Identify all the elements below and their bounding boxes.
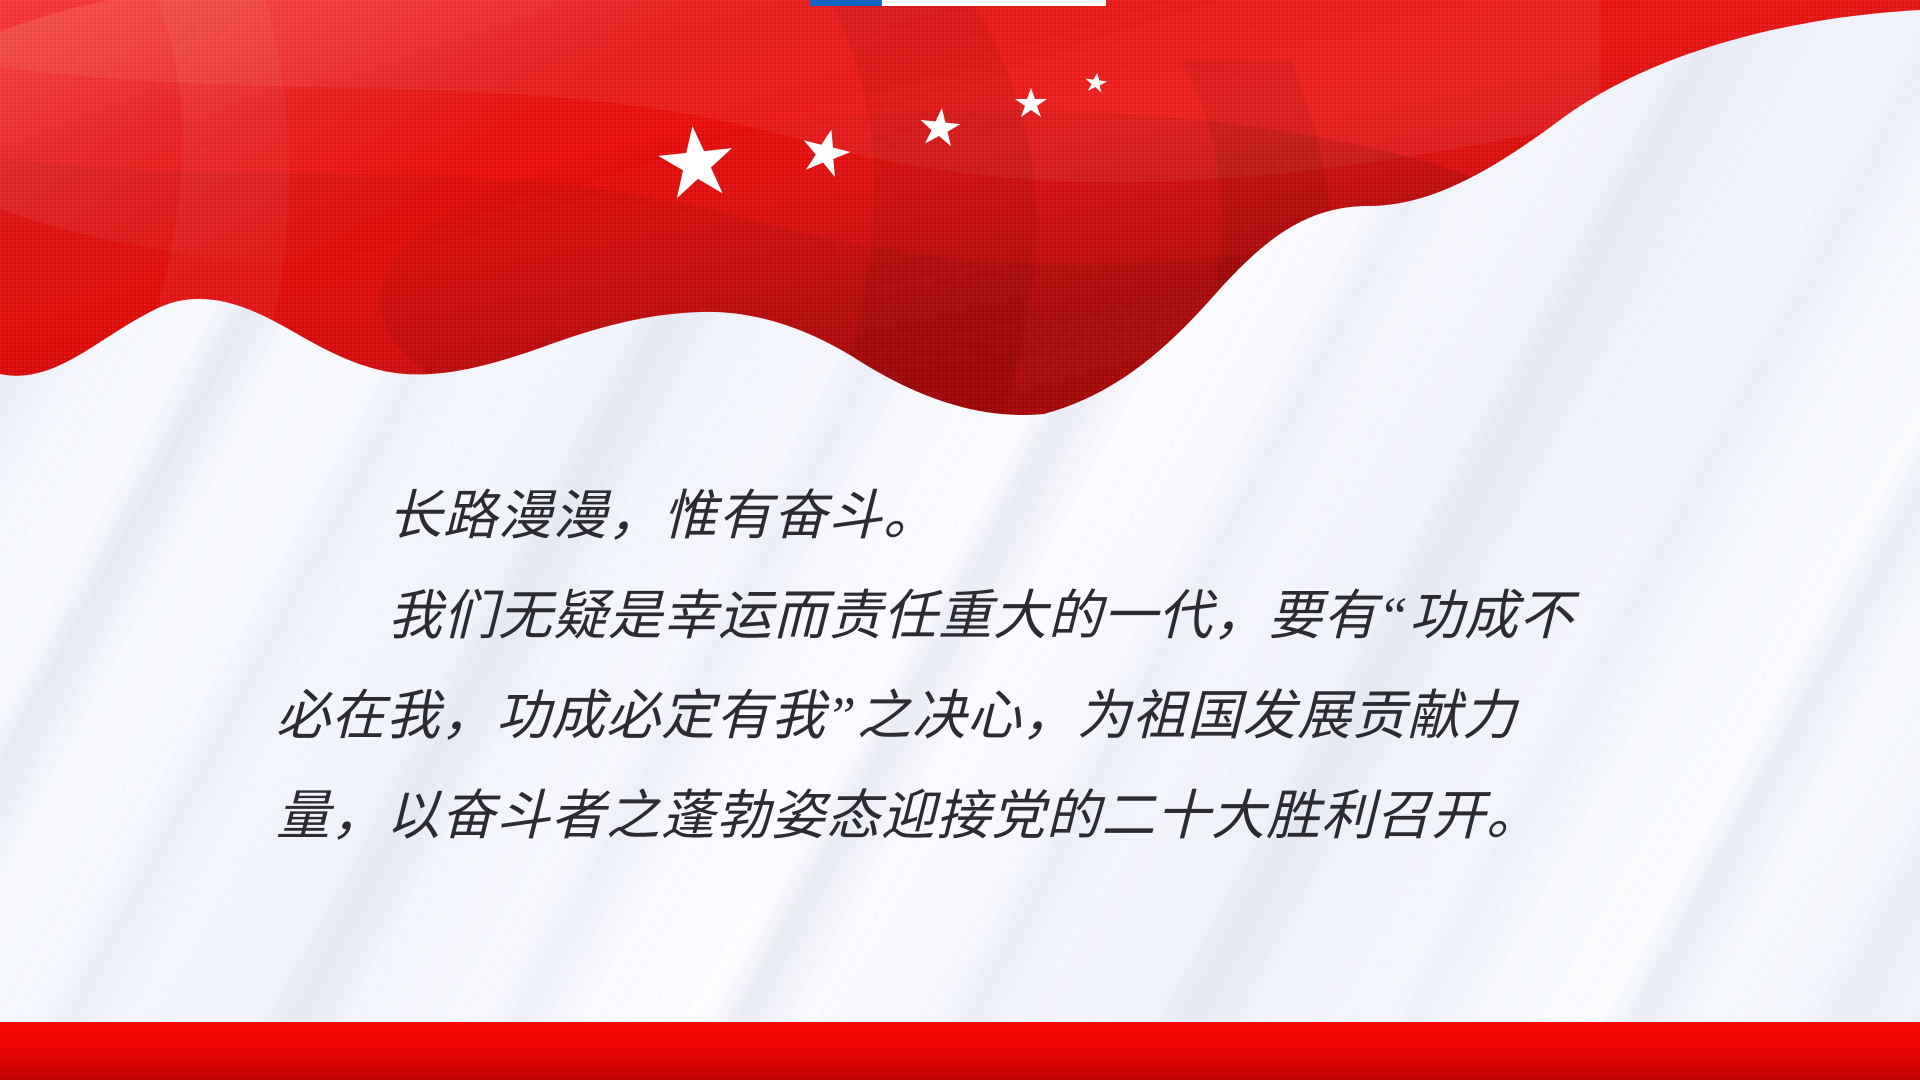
body-line-1: 长路漫漫，惟有奋斗。 [276, 466, 1686, 566]
flag-red-body [0, 0, 1920, 420]
top-strip-left-spacer [0, 0, 810, 6]
top-strip-blue-segment [810, 0, 882, 6]
body-line-2: 我们无疑是幸运而责任重大的一代，要有“功成不 [276, 566, 1686, 666]
slide-canvas: 长路漫漫，惟有奋斗。 我们无疑是幸运而责任重大的一代，要有“功成不 必在我，功成… [0, 0, 1920, 1080]
body-line-4: 量，以奋斗者之蓬勃姿态迎接党的二十大胜利召开。 [276, 766, 1686, 866]
slide-body-text: 长路漫漫，惟有奋斗。 我们无疑是幸运而责任重大的一代，要有“功成不 必在我，功成… [276, 466, 1686, 866]
top-strip-white-segment [882, 0, 1106, 6]
flag-graphic [0, 0, 1920, 420]
top-accent-strip [0, 0, 1920, 6]
top-strip-right-spacer [1106, 0, 1920, 6]
body-line-3: 必在我，功成必定有我”之决心，为祖国发展贡献力 [276, 666, 1686, 766]
bottom-red-bar [0, 1022, 1920, 1080]
